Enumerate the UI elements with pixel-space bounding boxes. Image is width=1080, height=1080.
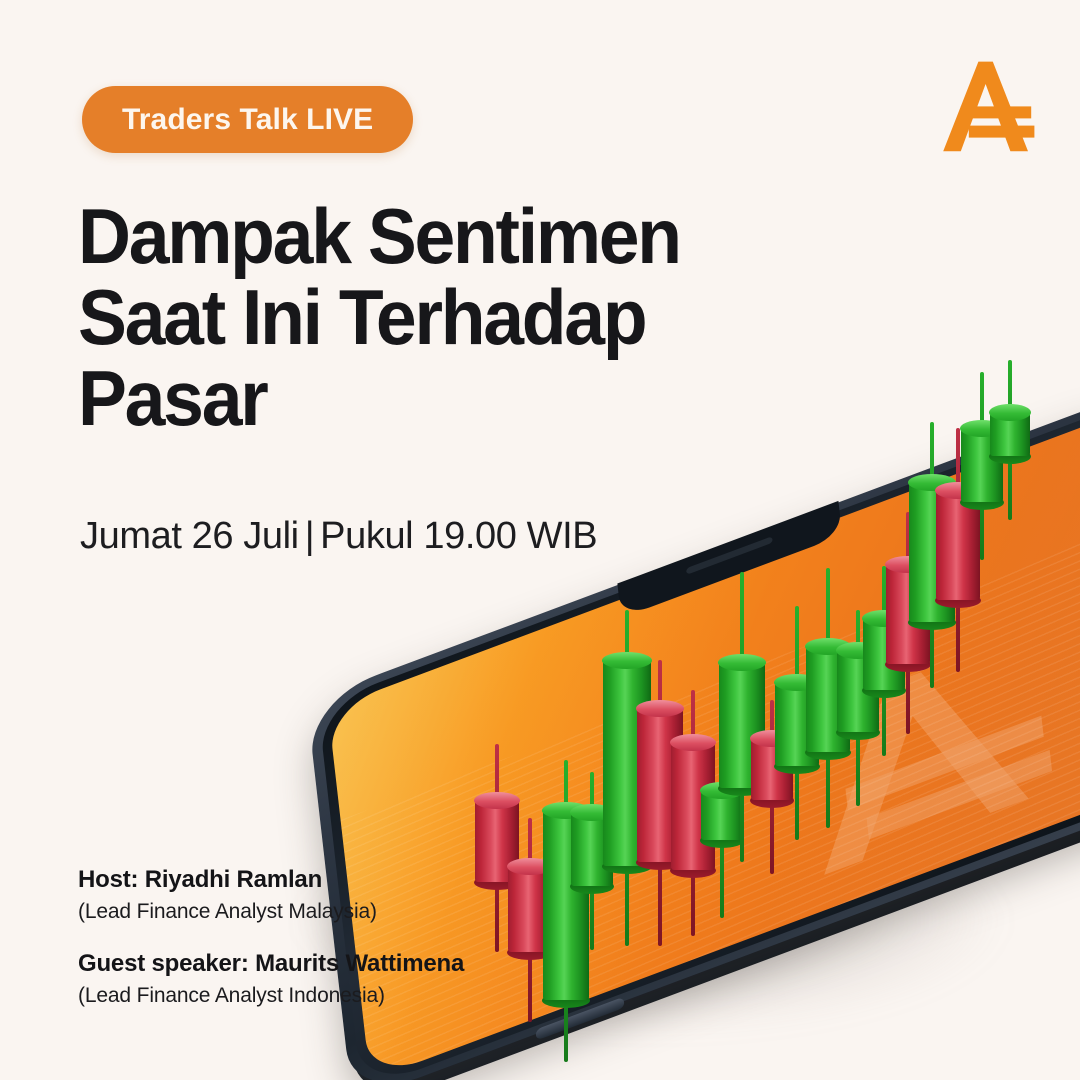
datetime-separator: | [299, 515, 320, 557]
live-badge[interactable]: Traders Talk LIVE [82, 86, 413, 153]
event-datetime: Jumat 26 Juli|Pukul 19.00 WIB [80, 515, 597, 558]
headline-line-1: Dampak Sentimen [78, 196, 792, 277]
letter-a-logo-icon [940, 58, 1036, 158]
event-time: Pukul 19.00 WIB [320, 515, 597, 557]
promo-poster: Traders Talk LIVE Dampak Sentimen Saat I… [0, 0, 1080, 1080]
page-title: Dampak Sentimen Saat Ini Terhadap Pasar [78, 196, 792, 439]
speaker-host-role: (Lead Finance Analyst Malaysia) [78, 900, 464, 924]
speaker-guest-role: (Lead Finance Analyst Indonesia) [78, 984, 464, 1008]
speaker-guest: Guest speaker: Maurits Wattimena (Lead F… [78, 950, 464, 1008]
content-overlay: Traders Talk LIVE Dampak Sentimen Saat I… [0, 0, 1080, 1080]
speaker-guest-name: Guest speaker: Maurits Wattimena [78, 950, 464, 978]
speaker-host-name: Host: Riyadhi Ramlan [78, 866, 464, 894]
event-date: Jumat 26 Juli [80, 515, 299, 557]
live-badge-label: Traders Talk LIVE [122, 103, 373, 137]
speaker-host: Host: Riyadhi Ramlan (Lead Finance Analy… [78, 866, 464, 924]
headline-line-2: Saat Ini Terhadap [78, 277, 792, 358]
speakers-list: Host: Riyadhi Ramlan (Lead Finance Analy… [78, 866, 464, 1008]
headline-line-3: Pasar [78, 358, 792, 439]
